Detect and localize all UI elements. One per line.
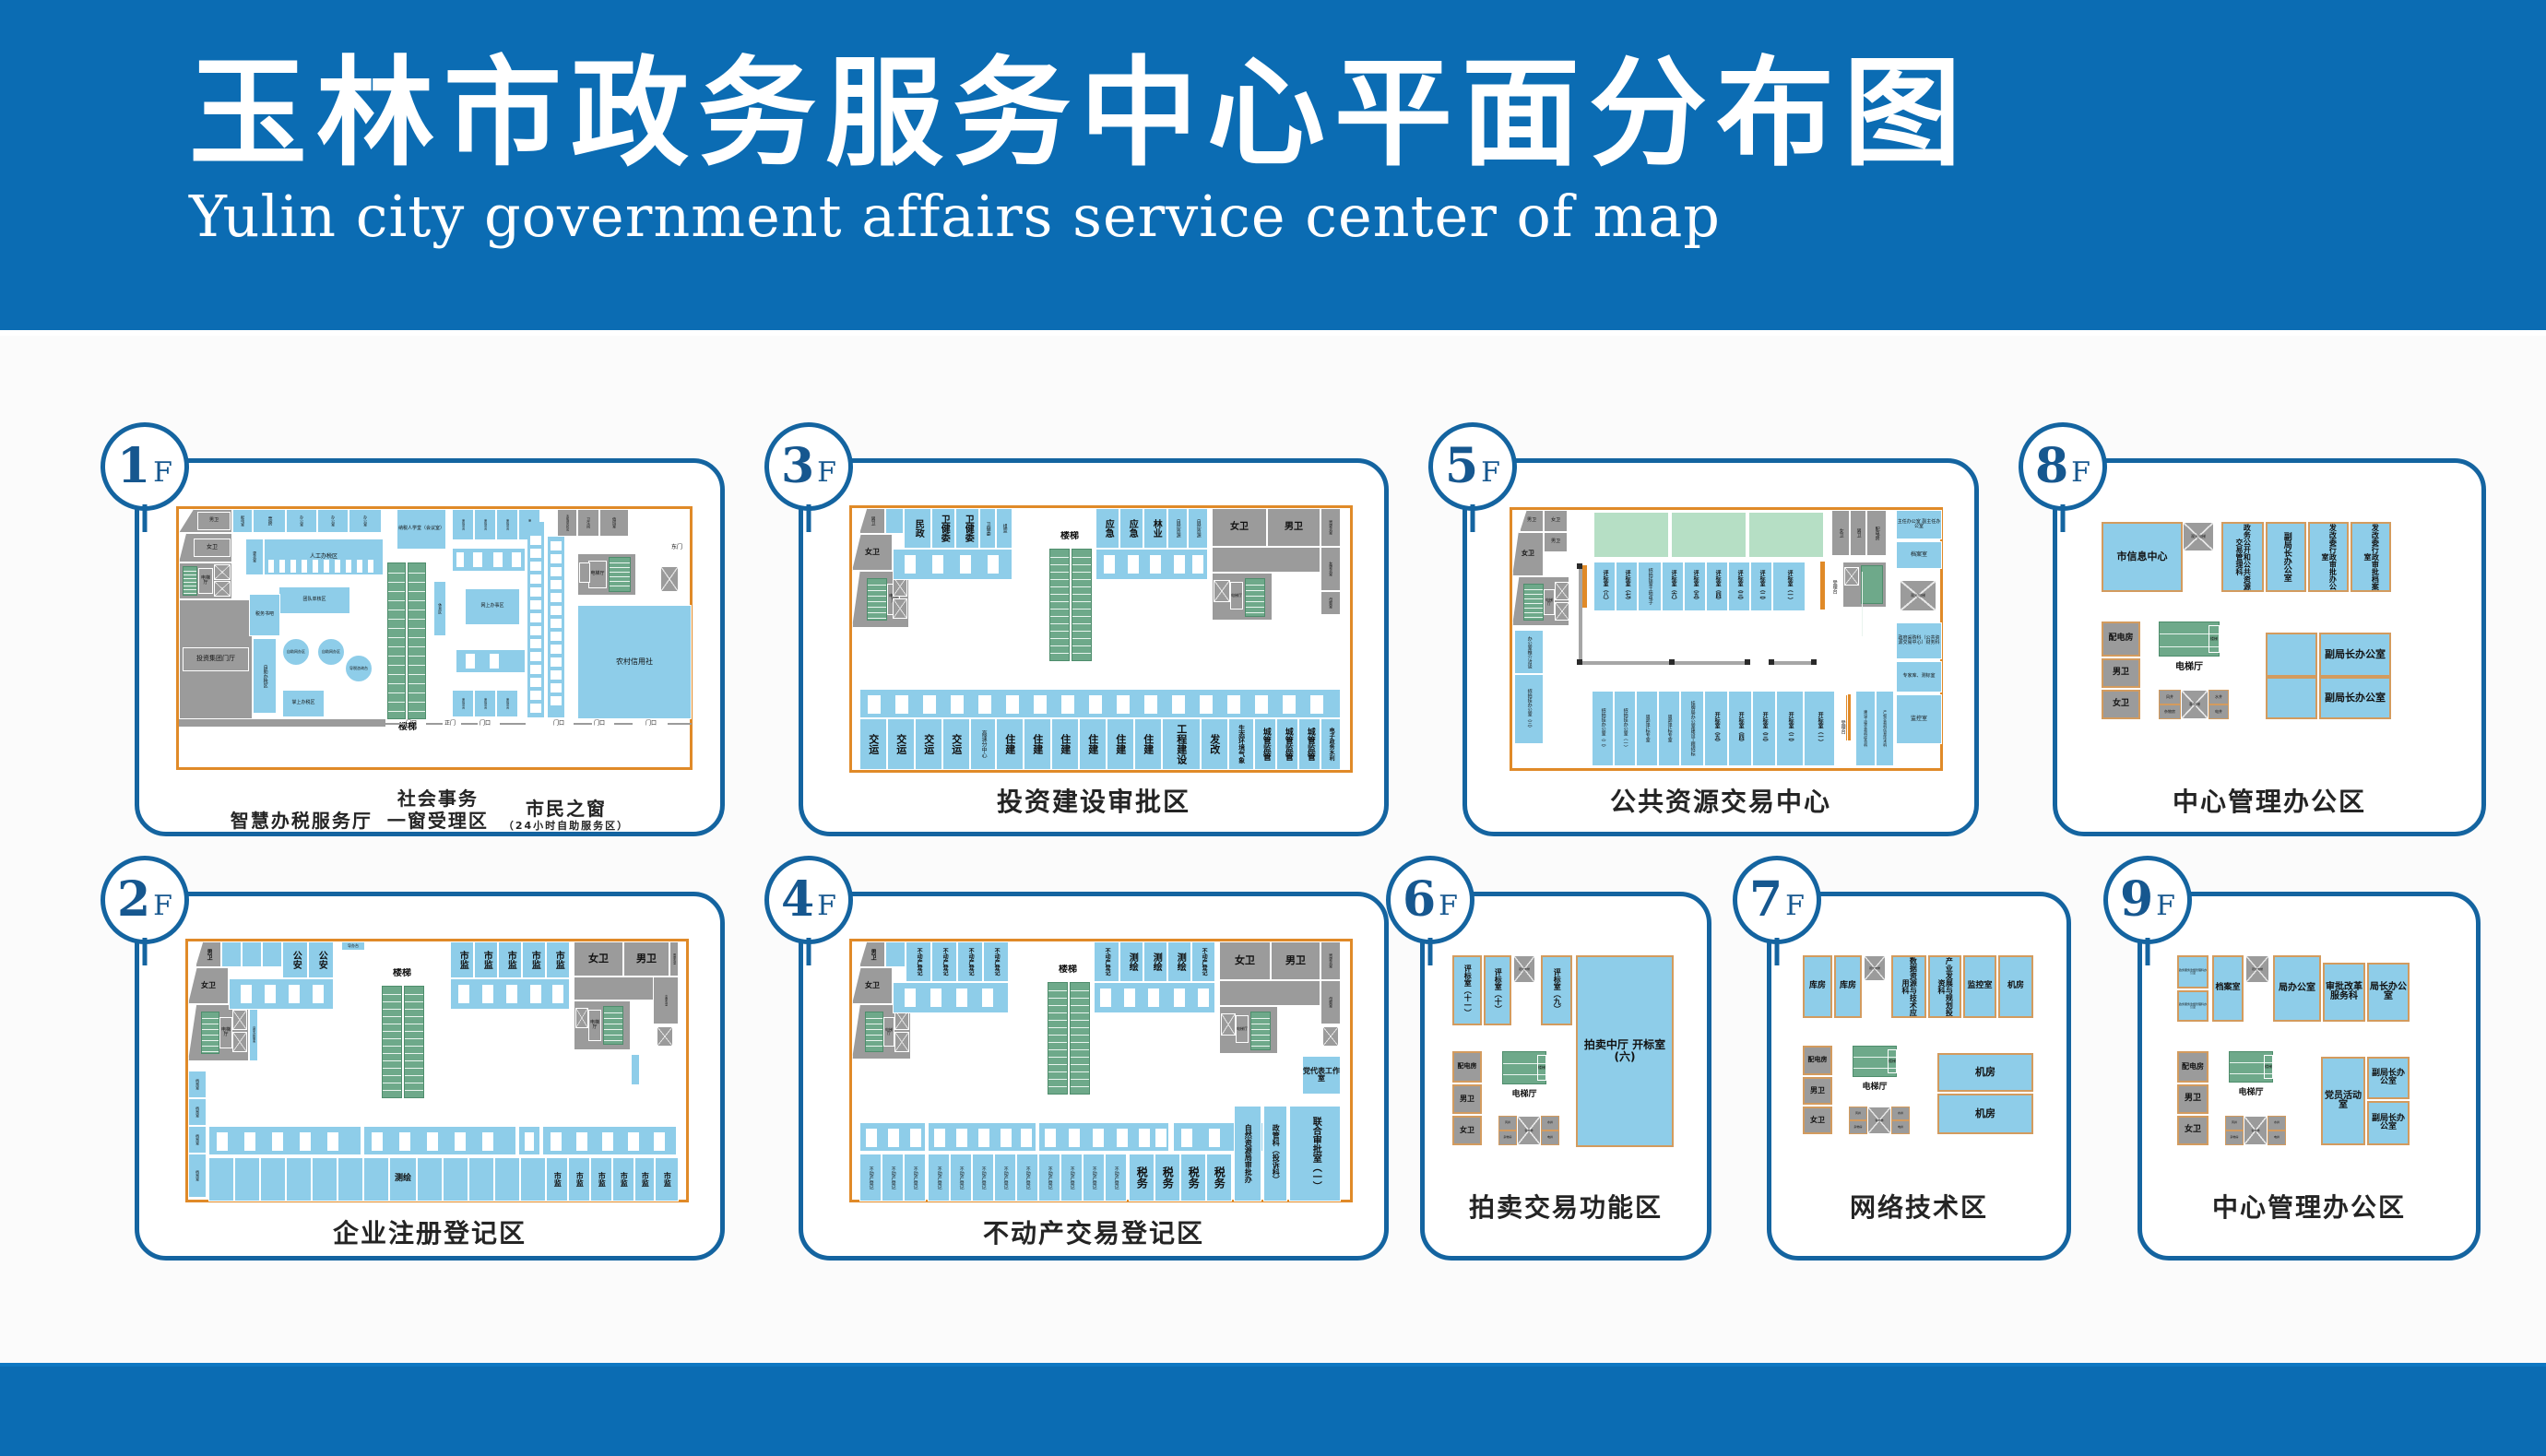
floor-caption-3f: 投资建设审批区 — [803, 782, 1384, 819]
floor-badge-3f: 3 F — [764, 422, 853, 511]
room-label: 风井 — [2166, 695, 2173, 699]
counter — [334, 559, 341, 574]
room — [242, 941, 262, 967]
counter — [904, 988, 917, 1008]
room-label: 市监 — [641, 1172, 648, 1187]
room-label: 测绘 — [1151, 953, 1161, 971]
elevator-icon: 客电梯 — [1517, 1116, 1541, 1145]
room: 受理台 — [1837, 694, 1848, 759]
counter — [1116, 694, 1131, 715]
room: 高速分中心 — [970, 718, 996, 770]
room: 杂物房 — [2159, 704, 2181, 719]
elevator-icon — [1844, 567, 1859, 586]
room-label: 女卫 — [2185, 1126, 2201, 1134]
room-label: 招拍挂办公室（三） — [1526, 689, 1531, 730]
room-label: 副局长办公室 — [2325, 692, 2386, 704]
elevator-icon: 客电梯 — [2181, 690, 2209, 719]
room: 局办公室 — [2273, 955, 2321, 1022]
room-label: 电梯厅 — [1544, 589, 1555, 615]
floor-card-8f[interactable]: 8 F 市信息中心 观光电梯 政务公开和公共资源交易管理科 副局长办公室 发改委… — [2053, 458, 2486, 836]
room-label: 办公室 — [363, 515, 367, 527]
room: 测绘 — [1143, 941, 1167, 982]
counter — [278, 559, 286, 574]
kiosk — [529, 638, 542, 649]
room: 市监 — [498, 941, 522, 978]
counter — [1020, 1128, 1033, 1148]
elevator-icon — [894, 1032, 909, 1052]
room: 母婴室 — [1320, 591, 1341, 615]
counter — [290, 559, 297, 574]
badge-stem — [807, 938, 811, 965]
counter — [1226, 694, 1241, 715]
room-label: 男卫 — [206, 949, 211, 960]
room-label: 电梯厅 — [588, 1010, 601, 1041]
floor-suffix: F — [1478, 446, 1500, 487]
room: 配电房 — [1803, 1046, 1832, 1075]
room-label: 挂牌局办公室建设工程招标 — [1689, 701, 1694, 756]
room: 审批改革服务科 — [2323, 963, 2365, 1022]
room: 配电室 — [232, 509, 253, 533]
caption-line: 企业注册登记区 — [333, 1218, 527, 1249]
room-label: 评标室（二） — [1759, 570, 1764, 603]
room-label: 票房 — [266, 516, 271, 526]
corridor-path — [1579, 661, 1750, 665]
room: 女更衣室 — [1320, 547, 1341, 591]
badge-stem — [1471, 504, 1475, 532]
room-label: 林业 — [1151, 519, 1161, 538]
elevator-label: 客电梯 — [1868, 1119, 1890, 1122]
room-label: 电梯厅 — [1236, 1015, 1249, 1043]
room-label: 男卫 — [1810, 1087, 1825, 1095]
room-label: 档案室 — [195, 1134, 199, 1145]
room-label: 发改 — [1209, 734, 1220, 754]
room: 测绘 — [389, 1157, 417, 1201]
room: 办公室 — [317, 509, 349, 533]
floor-caption-9f: 中心管理办公区 — [2142, 1188, 2476, 1225]
kiosk — [529, 599, 542, 610]
counter — [1254, 694, 1269, 715]
counter — [299, 1131, 312, 1152]
room-label: 审批后台 — [505, 519, 508, 530]
room-label: 评标室（五） — [1692, 570, 1698, 603]
room: 女卫 — [188, 967, 229, 1004]
counter — [1149, 554, 1162, 574]
door-label: 门口 — [480, 718, 491, 727]
room-label: 投资集团门厅 — [183, 647, 249, 671]
floor-badge-1f: 1 F — [101, 422, 189, 511]
room-label: 税务 — [1188, 1166, 1200, 1189]
room-label: 住建 — [1032, 734, 1043, 754]
room: 机房 — [1937, 1053, 2033, 1092]
room-label: 导办台 — [348, 944, 359, 948]
room — [208, 1157, 234, 1201]
room — [260, 1157, 286, 1201]
caption-line: 社会事务 — [387, 787, 489, 810]
elevator-label: 客电梯 — [1518, 1129, 1540, 1132]
room-label: 市监 — [505, 951, 515, 969]
room: 不动产登记 — [859, 1154, 882, 1201]
room-label: 测绘 — [1175, 953, 1185, 971]
room: 城管监管 — [1254, 718, 1276, 770]
corridor-path — [1579, 565, 1582, 665]
counter — [575, 1131, 588, 1152]
badge-stem — [143, 938, 148, 965]
door-label: 正门 — [444, 718, 456, 727]
floor-number: 4 — [781, 876, 814, 924]
room-label: 政务公开和公共资源交易管理科 — [2235, 524, 2251, 590]
room: 不动产登记 — [904, 1154, 926, 1201]
stair-label: 楼梯 — [1888, 1049, 1897, 1073]
hall-area — [1671, 512, 1747, 558]
room: 审批后台 — [496, 690, 518, 717]
kiosk — [550, 566, 562, 577]
room: 政务公开和公共资源交易管理科 — [2221, 522, 2264, 592]
counter — [1033, 694, 1048, 715]
stair-label: 楼梯 — [1537, 1055, 1546, 1081]
room-label: 杂物房 — [1503, 1136, 1511, 1139]
stair-label: 楼梯 — [1046, 964, 1090, 977]
room-label: 周密评标专室 — [1644, 715, 1649, 742]
room-label: 女卫 — [588, 953, 609, 965]
room: 住建 — [1051, 718, 1079, 770]
room-label: 自然资源 — [1175, 519, 1179, 538]
floor-caption-5f: 公共资源交易中心 — [1467, 782, 1974, 819]
room: 库房 — [1803, 955, 1832, 1018]
room-label: 不动产登记 — [868, 1166, 872, 1190]
room: 值班室 — [599, 509, 629, 537]
room — [885, 508, 904, 534]
room-label: 公安 — [290, 951, 301, 969]
room-label: 评标室（十） — [1494, 968, 1501, 1012]
floorplan-outline-4f: 男卫 女卫 电梯厅 不动产登记 不动产登记 不动产登记 不动产登记 楼梯 — [849, 939, 1353, 1202]
room: 副局长办公室 — [2319, 677, 2391, 719]
room-label: 办公室 — [300, 515, 303, 527]
floor-suffix: F — [1782, 880, 1805, 920]
room: 电井 — [2268, 1130, 2286, 1145]
room: 市监 — [522, 941, 546, 978]
room: 自助网办区 — [317, 638, 345, 666]
elevator-icon: 观光电梯 — [1513, 955, 1535, 983]
room-label: 住建 — [1143, 734, 1154, 754]
room: 评标室（八） — [1593, 562, 1616, 611]
counter — [1173, 988, 1186, 1008]
floor-card-3f[interactable]: 3 F 男卫 女卫 电梯厅 民政 卫健委 卫健委 卫健委 组宣 楼梯 — [799, 458, 1389, 836]
room-label: 女卫 — [1838, 528, 1842, 538]
room — [312, 1157, 337, 1201]
room-label: 组宣 — [1001, 524, 1006, 533]
hall-area — [1593, 512, 1669, 558]
kiosk — [550, 579, 562, 590]
room: 市监 — [546, 941, 570, 978]
counter — [529, 984, 542, 1004]
floor-caption-6f: 拍卖交易功能区 — [1425, 1188, 1707, 1225]
floorplan-outline-6f: 评标室（十一） 评标室（十） 观光电梯 评标室（九） 拍卖中厅 开标室(六) 配… — [1452, 955, 1674, 1147]
counter — [216, 1131, 229, 1152]
counter — [1123, 988, 1136, 1008]
room-label: 评标室（八） — [1602, 570, 1607, 603]
room-label: 电梯厅 — [883, 1017, 894, 1047]
counter — [601, 1131, 614, 1152]
room-label: 政务服务监督管理科办公室 — [2179, 1003, 2207, 1009]
room: 周密评标专室 — [1658, 691, 1680, 766]
room-label: 城管监管 — [1305, 728, 1313, 761]
room: 不动产登记 — [1105, 1154, 1127, 1201]
room: 女卫 — [2177, 1116, 2209, 1145]
room: 不动产登记 — [1038, 1154, 1060, 1201]
room-label: 水暖通风机房 — [565, 515, 568, 531]
counter — [240, 984, 253, 1004]
room-label: 不动产登记 — [980, 1166, 985, 1190]
room-label: 风井 — [1855, 1112, 1861, 1115]
room-label: 审批后台 — [505, 698, 508, 709]
room: 档案室 — [1896, 541, 1942, 569]
counter — [1127, 554, 1140, 574]
room: 女卫 — [574, 941, 623, 977]
counter — [426, 1131, 439, 1152]
room: 档案室 — [188, 1154, 207, 1198]
caption-block: 社会事务 一窗受理区 — [387, 787, 489, 832]
counter — [271, 1131, 284, 1152]
room-label: 监控室 — [1967, 982, 1992, 990]
floor-card-1f[interactable]: 1 F 男卫 女卫 电梯厅 投资集团门厅 配电室 票房 办公室 办公室 办公室 … — [135, 458, 725, 836]
room: 不动产登记 — [1094, 941, 1119, 982]
room: 招拍挂室土地电子 — [1638, 562, 1662, 611]
stair — [1523, 584, 1544, 621]
room: 税务 — [1129, 1154, 1155, 1201]
room-label: 受理台 — [1840, 720, 1844, 734]
counter — [1155, 1128, 1167, 1148]
room: 拍卖中厅 开标室(六) — [1576, 955, 1674, 1147]
floor-number: 8 — [2035, 443, 2068, 491]
room: 男卫 — [859, 508, 885, 534]
floor-badge-4f: 4 F — [764, 856, 853, 944]
room-label: 发改委行政审批办公室 — [2321, 524, 2337, 590]
badge-stem — [1428, 938, 1433, 965]
room: 副局长办公室 — [2266, 522, 2306, 592]
floor-caption-8f: 中心管理办公区 — [2057, 782, 2481, 819]
badge-stem — [143, 504, 148, 532]
floor-caption-4f: 不动产交易登记区 — [803, 1213, 1384, 1250]
stair-label: 楼梯 — [380, 967, 424, 980]
room-label: 男卫 — [1855, 528, 1860, 538]
room: 政管科（投诉科） — [1263, 1106, 1287, 1201]
header-titles: 玉林市政务服务中心平面分布图 Yulin city government aff… — [189, 48, 1971, 249]
counter — [627, 1131, 640, 1152]
counter — [524, 1131, 535, 1152]
room — [1219, 980, 1320, 1006]
room-label: 数据资源与技术应用科 — [1901, 957, 1917, 1016]
room: 税务 — [1180, 1154, 1206, 1201]
counter — [1147, 988, 1160, 1008]
room-label: 杂物房 — [2230, 1136, 2238, 1139]
room — [363, 1157, 389, 1201]
counter — [904, 554, 917, 574]
room: 水暖通风机房 — [557, 509, 577, 537]
room-label: 库房 — [1809, 982, 1826, 990]
room: 办公室 — [349, 509, 382, 533]
room: 电井 — [1891, 1120, 1910, 1134]
room-label: 电井 — [1898, 1126, 1903, 1129]
room-label: 住建 — [1115, 734, 1126, 754]
elevator-icon — [657, 1026, 673, 1047]
floorplan-outline-2f: 男卫 女卫 电梯厅 自助办税服务 公安 公安 导办台 楼梯 — [185, 939, 689, 1202]
room: 受理台 — [1828, 562, 1841, 611]
room-label: 卫健委 — [963, 515, 973, 542]
kiosk — [550, 657, 562, 668]
counter — [371, 1131, 384, 1152]
room-label: 不动产登记 — [1201, 948, 1206, 976]
floor-card-5f[interactable]: 5 F 男卫 女卫 男卫 女卫 电梯厅 办公室推介洽谈 招拍挂办公室（三） 评标… — [1462, 458, 1979, 836]
counter — [865, 1128, 878, 1148]
room: 产业发展与规划投资科 — [1928, 955, 1961, 1018]
room: 产权交易科信息技术科 — [1876, 691, 1894, 766]
room: 不动产登记 — [950, 1154, 972, 1201]
floor-suffix: F — [814, 880, 836, 920]
room-label: 市监 — [457, 951, 468, 969]
room: 市监 — [655, 1157, 679, 1201]
room-label: 女卫 — [194, 539, 231, 557]
floor-card-7f[interactable]: 7 F 库房 库房 观光电梯 数据资源与技术应用科 产业发展与规划投资科 监控室… — [1767, 892, 2071, 1261]
counter — [492, 551, 503, 568]
room: 女卫 — [852, 534, 893, 571]
room: 男卫 — [859, 941, 885, 967]
room: 交运 — [915, 718, 942, 770]
counter — [550, 1131, 562, 1152]
counter — [1000, 1128, 1012, 1148]
room-label: 风井 — [1505, 1121, 1510, 1124]
counter — [243, 1131, 256, 1152]
room: 税务 — [1206, 1154, 1232, 1201]
room: 自助办税区 — [253, 638, 277, 714]
room-label: 住建 — [1060, 734, 1071, 754]
kiosk — [529, 612, 542, 623]
room-label: 电梯厅 — [219, 1017, 232, 1048]
room-label: 住建 — [1087, 734, 1098, 754]
stair-label: 楼梯 — [1048, 530, 1092, 543]
room-label: 交运 — [923, 734, 934, 754]
counter — [1099, 988, 1112, 1008]
room: 政务服务监督管理科办公室 — [2177, 955, 2209, 988]
elevator-icon — [1322, 1026, 1339, 1047]
room-label: 男卫 — [636, 953, 657, 965]
counter — [955, 988, 968, 1008]
room: 库房 — [1834, 955, 1862, 1018]
room-label: 评标室（十一） — [1463, 965, 1471, 1016]
room — [2266, 677, 2317, 719]
counter — [481, 984, 494, 1004]
room: 不动产登记 — [1016, 1154, 1038, 1201]
elevator-icon — [660, 566, 679, 592]
stair-2f-main-2 — [404, 986, 424, 1098]
kiosk — [529, 625, 542, 636]
room: 导办台 — [341, 941, 365, 951]
kiosk — [550, 592, 562, 603]
badge-stem — [807, 504, 811, 532]
room-label: 电井 — [1547, 1136, 1553, 1139]
room-label: 电子政务水利 — [1328, 728, 1333, 761]
stair — [603, 1006, 623, 1045]
floor-card-6f[interactable]: 6 F 评标室（十一） 评标室（十） 观光电梯 评标室（九） 拍卖中厅 开标室(… — [1420, 892, 1711, 1261]
room-label: 副局长办公室 — [2281, 532, 2290, 582]
room: 掌上办税区 — [282, 690, 325, 717]
room-label: 女卫 — [201, 982, 216, 989]
room-label: 监控室 — [1911, 716, 1927, 722]
counter — [1282, 694, 1297, 715]
floor-card-4f[interactable]: 4 F 男卫 女卫 电梯厅 不动产登记 不动产登记 不动产登记 不动产登记 楼梯 — [799, 892, 1389, 1261]
room: 女卫 — [1452, 1116, 1482, 1145]
room-label: 杂物房 — [2164, 710, 2175, 714]
room: 发改 — [1201, 718, 1228, 770]
room: 周密评标专室 — [1636, 691, 1658, 766]
elevator-icon — [1214, 580, 1230, 602]
room: 市监 — [474, 941, 498, 978]
room: 审批后台 — [474, 690, 496, 717]
room-label: 市监 — [598, 1172, 605, 1187]
floor-number: 2 — [117, 876, 150, 924]
room-label: 开标室（五） — [1713, 712, 1719, 745]
room-label: 副局长办公室 — [2369, 1115, 2408, 1132]
room-label: 女卫 — [1810, 1117, 1825, 1124]
room: 男卫 — [195, 941, 221, 967]
room-label: 不动产登记 — [1002, 1166, 1007, 1190]
elevator-label: 观光电梯 — [2246, 967, 2268, 971]
room: 审批后台 — [474, 509, 496, 540]
room: 休息区 — [433, 581, 446, 636]
room-label: 政府采购科（公共资源交易中心）财务科 — [1897, 636, 1941, 646]
room: 水井 — [1891, 1107, 1910, 1120]
room-label: 机房 — [1975, 1108, 1995, 1119]
floor-badge-6f: 6 F — [1386, 856, 1474, 944]
room-label: 高速分中心 — [980, 730, 986, 758]
counter — [1173, 554, 1186, 574]
room-label: 档案室 — [2215, 984, 2240, 992]
floor-card-9f[interactable]: 9 F 政务服务监督管理科办公室 政务服务监督管理科办公室 档案室 观光电梯 局… — [2137, 892, 2481, 1261]
room-label: 男卫 — [1285, 955, 1306, 966]
corridor-path — [1770, 661, 1817, 665]
elevator-label: 观光电梯 — [1901, 593, 1936, 598]
counter — [1044, 1128, 1057, 1148]
room-label: 男卫 — [870, 516, 874, 526]
room: 更衣室 — [245, 539, 264, 575]
room-label: 产业发展与规划投资科 — [1937, 957, 1953, 1016]
stair — [865, 1012, 883, 1052]
room: 不动产登记 — [906, 941, 931, 982]
room-label: 市监 — [481, 951, 491, 969]
room: 导税咨询台 — [345, 655, 373, 682]
floor-suffix: F — [150, 880, 172, 920]
stair — [1250, 1012, 1271, 1050]
room-label: 审批后台 — [483, 698, 486, 709]
room: 监控室 — [1896, 694, 1942, 744]
stair-label: 楼梯 — [2264, 1055, 2273, 1079]
room: 不动产登记 — [972, 1154, 994, 1201]
room-label: 应急 — [1103, 519, 1113, 538]
hall-area — [1748, 512, 1824, 558]
kiosk — [550, 669, 562, 681]
room: 副局长办公室 — [2367, 1057, 2410, 1099]
room: 审批后台 — [452, 690, 474, 717]
room-label: 女更衣室 — [1329, 562, 1332, 576]
room-label: 开标室（二） — [1787, 712, 1793, 745]
room-label: 不动产登记 — [1104, 948, 1109, 976]
room-label: 开标室（三） — [1761, 712, 1767, 745]
room-label: 工程建设 — [1176, 724, 1187, 764]
floor-card-2f[interactable]: 2 F 男卫 女卫 电梯厅 自助办税服务 公安 公安 导办台 楼梯 — [135, 892, 725, 1261]
room-label: 男卫 — [2113, 669, 2129, 677]
room-label: 档案室 — [195, 1079, 199, 1090]
wall-band — [179, 719, 385, 727]
kiosk — [550, 695, 562, 706]
